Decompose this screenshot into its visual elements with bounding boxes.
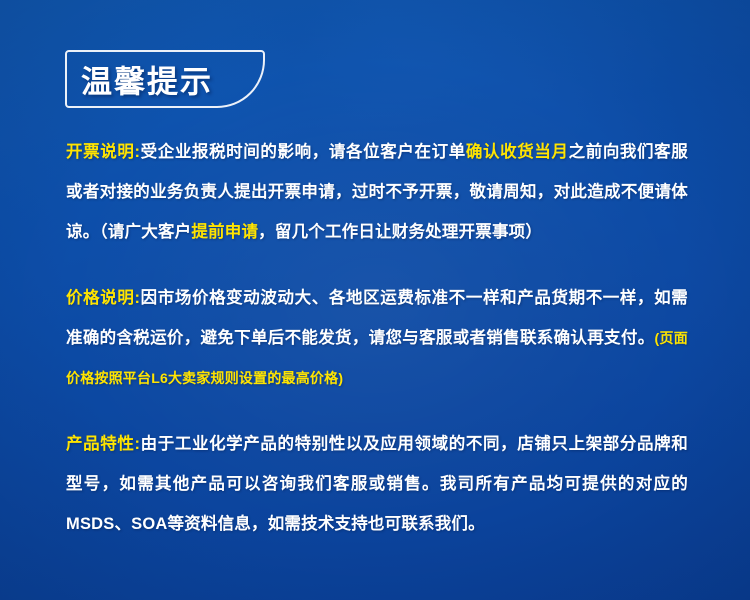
invoice-lead-label: 开票说明: <box>66 143 140 161</box>
price-lead-label: 价格说明: <box>66 289 140 307</box>
section-title: 温馨提示 <box>65 50 265 108</box>
product-body-1: 由于工业化学产品的特别性以及应用领域的不同，店铺只上架部分品牌和型号，如需其他产… <box>66 435 688 533</box>
title-text: 温馨提示 <box>81 57 213 102</box>
invoice-highlight-1: 确认收货当月 <box>466 143 569 161</box>
notice-body: 开票说明:受企业报税时间的影响，请各位客户在订单确认收货当月之前向我们客服或者对… <box>66 132 688 544</box>
notice-paragraph-invoice: 开票说明:受企业报税时间的影响，请各位客户在订单确认收货当月之前向我们客服或者对… <box>66 132 688 252</box>
notice-paragraph-product: 产品特性:由于工业化学产品的特别性以及应用领域的不同，店铺只上架部分品牌和型号，… <box>66 424 688 544</box>
invoice-body-1: 受企业报税时间的影响，请各位客户在订单 <box>140 143 466 161</box>
invoice-highlight-2: 提前申请 <box>191 223 258 241</box>
price-body-1: 因市场价格变动波动大、各地区运费标准不一样和产品货期不一样，如需准确的含税运价，… <box>66 289 688 347</box>
invoice-body-3: ，留几个工作日让财务处理开票事项） <box>258 223 542 241</box>
product-lead-label: 产品特性: <box>66 435 140 453</box>
promo-banner: 温馨提示 开票说明:受企业报税时间的影响，请各位客户在订单确认收货当月之前向我们… <box>0 0 750 600</box>
notice-paragraph-price: 价格说明:因市场价格变动波动大、各地区运费标准不一样和产品货期不一样，如需准确的… <box>66 278 688 398</box>
